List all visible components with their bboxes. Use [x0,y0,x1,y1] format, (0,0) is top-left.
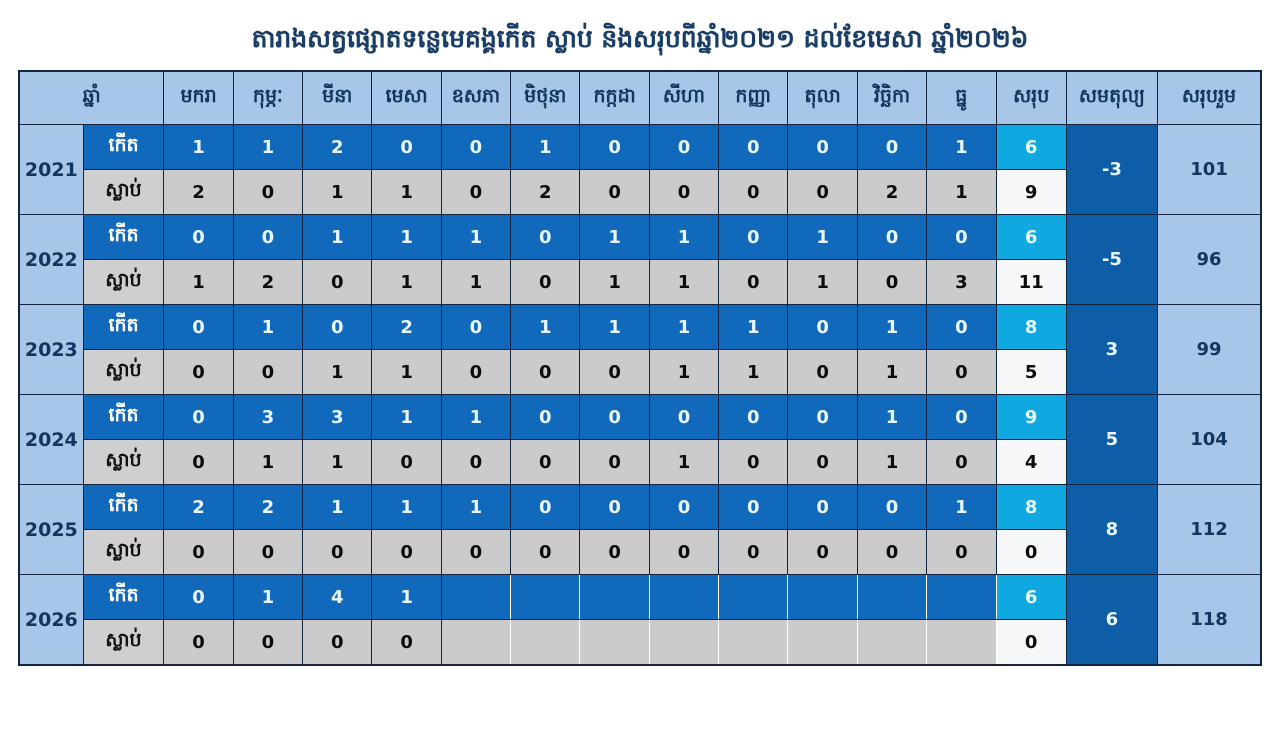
column-header-month-12: ធ្នូ [927,71,996,125]
cell-born-2026-m3: 4 [303,575,372,620]
cell-born-2023-m3: 0 [303,305,372,350]
cell-born-2024-m5: 1 [441,395,510,440]
cell-died-2021-m3: 1 [303,170,372,215]
cell-died-2024-m2: 1 [233,440,302,485]
cell-balance-2021: -3 [1066,125,1157,215]
cell-died-2022-m3: 0 [303,260,372,305]
cell-died-2026-m3: 0 [303,620,372,666]
cell-died-2026-m1: 0 [164,620,233,666]
cell-born-2024-m12: 0 [927,395,996,440]
cell-died-total-2023: 5 [996,350,1066,395]
cell-born-2023-m10: 0 [788,305,857,350]
cell-died-2024-m6: 0 [511,440,580,485]
cell-born-2022-m1: 0 [164,215,233,260]
cell-died-total-2021: 9 [996,170,1066,215]
row-year-2024: 2024 [19,395,83,485]
cell-died-2023-m4: 1 [372,350,441,395]
row-label-died-2022: ស្លាប់ [83,260,164,305]
cell-balance-2024: 5 [1066,395,1157,485]
cell-died-2021-m7: 0 [580,170,649,215]
cell-died-2025-m11: 0 [857,530,926,575]
cell-died-2026-m5 [441,620,510,666]
cell-born-total-2021: 6 [996,125,1066,170]
cell-born-2025-m11: 0 [857,485,926,530]
cell-born-2023-m8: 1 [649,305,718,350]
cell-balance-2022: -5 [1066,215,1157,305]
cell-born-2025-m1: 2 [164,485,233,530]
cell-died-2026-m10 [788,620,857,666]
column-header-month-4: មេសា [372,71,441,125]
cell-born-2024-m10: 0 [788,395,857,440]
column-header-total: សរុប [996,71,1066,125]
cell-born-2021-m8: 0 [649,125,718,170]
cell-born-2026-m2: 1 [233,575,302,620]
cell-died-2023-m10: 0 [788,350,857,395]
table-row: 2023កើត0102011110108399 [19,305,1261,350]
column-header-month-7: កក្កដា [580,71,649,125]
page-root: តារាងសត្វផ្សោតទន្លេមេគង្គកើត ស្លាប់ និងស… [0,0,1280,739]
cell-died-2025-m5: 0 [441,530,510,575]
cell-born-total-2023: 8 [996,305,1066,350]
row-year-2025: 2025 [19,485,83,575]
cell-born-2023-m1: 0 [164,305,233,350]
cell-born-2025-m8: 0 [649,485,718,530]
cell-born-2022-m5: 1 [441,215,510,260]
cell-died-total-2026: 0 [996,620,1066,666]
cell-died-2025-m9: 0 [719,530,788,575]
cell-grand-total-2025: 112 [1157,485,1261,575]
cell-balance-2026: 6 [1066,575,1157,666]
cell-born-2026-m7 [580,575,649,620]
cell-born-2022-m12: 0 [927,215,996,260]
cell-died-2026-m2: 0 [233,620,302,666]
cell-died-2024-m10: 0 [788,440,857,485]
cell-died-2026-m7 [580,620,649,666]
cell-born-2024-m2: 3 [233,395,302,440]
cell-died-2026-m4: 0 [372,620,441,666]
column-header-month-3: មីនា [303,71,372,125]
cell-born-2022-m11: 0 [857,215,926,260]
cell-grand-total-2022: 96 [1157,215,1261,305]
cell-born-2023-m2: 1 [233,305,302,350]
cell-died-2021-m12: 1 [927,170,996,215]
cell-died-2022-m10: 1 [788,260,857,305]
cell-died-2022-m4: 1 [372,260,441,305]
cell-born-2021-m6: 1 [511,125,580,170]
row-label-died-2024: ស្លាប់ [83,440,164,485]
cell-died-2024-m7: 0 [580,440,649,485]
row-label-born-2022: កើត [83,215,164,260]
cell-died-2026-m8 [649,620,718,666]
cell-died-2022-m2: 2 [233,260,302,305]
cell-born-2024-m4: 1 [372,395,441,440]
cell-born-total-2022: 6 [996,215,1066,260]
cell-born-total-2025: 8 [996,485,1066,530]
row-label-born-2023: កើត [83,305,164,350]
cell-born-2026-m11 [857,575,926,620]
cell-died-2021-m9: 0 [719,170,788,215]
cell-died-2024-m8: 1 [649,440,718,485]
column-header-month-11: វិច្ឆិកា [857,71,926,125]
cell-died-2023-m1: 0 [164,350,233,395]
cell-born-total-2024: 9 [996,395,1066,440]
cell-died-2022-m11: 0 [857,260,926,305]
cell-born-total-2026: 6 [996,575,1066,620]
cell-grand-total-2023: 99 [1157,305,1261,395]
cell-born-2026-m1: 0 [164,575,233,620]
cell-born-2026-m5 [441,575,510,620]
cell-born-2026-m10 [788,575,857,620]
column-header-balance: សមតុល្យ [1066,71,1157,125]
cell-died-2026-m6 [511,620,580,666]
cell-born-2021-m12: 1 [927,125,996,170]
cell-born-2025-m3: 1 [303,485,372,530]
cell-born-2024-m9: 0 [719,395,788,440]
cell-died-2025-m7: 0 [580,530,649,575]
cell-born-2023-m5: 0 [441,305,510,350]
cell-died-2026-m11 [857,620,926,666]
cell-died-2024-m1: 0 [164,440,233,485]
row-label-born-2026: កើត [83,575,164,620]
cell-died-2025-m1: 0 [164,530,233,575]
column-header-grand-total: សរុបរួម [1157,71,1261,125]
cell-died-2023-m7: 0 [580,350,649,395]
column-header-month-6: មិថុនា [511,71,580,125]
cell-born-2026-m12 [927,575,996,620]
row-label-died-2025: ស្លាប់ [83,530,164,575]
row-label-died-2021: ស្លាប់ [83,170,164,215]
cell-died-2022-m7: 1 [580,260,649,305]
cell-born-2023-m12: 0 [927,305,996,350]
cell-born-2026-m9 [719,575,788,620]
cell-born-2022-m6: 0 [511,215,580,260]
cell-died-2022-m1: 1 [164,260,233,305]
cell-died-2025-m4: 0 [372,530,441,575]
cell-died-2026-m9 [719,620,788,666]
cell-died-2025-m8: 0 [649,530,718,575]
cell-died-2024-m5: 0 [441,440,510,485]
cell-died-total-2022: 11 [996,260,1066,305]
cell-born-2024-m6: 0 [511,395,580,440]
cell-born-2023-m11: 1 [857,305,926,350]
cell-died-2023-m9: 1 [719,350,788,395]
cell-born-2021-m4: 0 [372,125,441,170]
cell-died-total-2024: 4 [996,440,1066,485]
table-row: 2021កើត1120010000016-3101 [19,125,1261,170]
column-header-month-5: ឧសភា [441,71,510,125]
cell-born-2022-m10: 1 [788,215,857,260]
cell-grand-total-2026: 118 [1157,575,1261,666]
cell-died-2021-m6: 2 [511,170,580,215]
cell-died-2025-m10: 0 [788,530,857,575]
row-year-2021: 2021 [19,125,83,215]
column-header-year: ឆ្នាំ [19,71,164,125]
cell-died-2025-m12: 0 [927,530,996,575]
page-title: តារាងសត្វផ្សោតទន្លេមេគង្គកើត ស្លាប់ និងស… [0,0,1280,70]
cell-born-2024-m8: 0 [649,395,718,440]
table-row: 2024កើត03311000001095104 [19,395,1261,440]
cell-born-2024-m1: 0 [164,395,233,440]
cell-born-2023-m4: 2 [372,305,441,350]
row-year-2023: 2023 [19,305,83,395]
cell-born-2021-m2: 1 [233,125,302,170]
cell-born-2025-m2: 2 [233,485,302,530]
cell-born-2022-m2: 0 [233,215,302,260]
cell-born-2024-m3: 3 [303,395,372,440]
table-row: 2025កើត22111000000188112 [19,485,1261,530]
cell-born-2024-m11: 1 [857,395,926,440]
cell-born-2021-m7: 0 [580,125,649,170]
cell-died-2023-m8: 1 [649,350,718,395]
cell-died-2021-m10: 0 [788,170,857,215]
cell-died-2024-m9: 0 [719,440,788,485]
cell-balance-2023: 3 [1066,305,1157,395]
cell-born-2025-m10: 0 [788,485,857,530]
table-container: ឆ្នាំ មករា កុម្ភៈ មីនា មេសា ឧសភា មិថុនា … [0,70,1280,666]
cell-died-2022-m8: 1 [649,260,718,305]
cell-born-2026-m8 [649,575,718,620]
cell-born-2021-m1: 1 [164,125,233,170]
column-header-month-10: តុលា [788,71,857,125]
cell-born-2021-m10: 0 [788,125,857,170]
dolphin-statistics-table: ឆ្នាំ មករា កុម្ភៈ មីនា មេសា ឧសភា មិថុនា … [18,70,1262,666]
cell-born-2023-m7: 1 [580,305,649,350]
cell-died-2025-m3: 0 [303,530,372,575]
cell-died-2024-m12: 0 [927,440,996,485]
cell-died-2023-m11: 1 [857,350,926,395]
cell-died-2025-m6: 0 [511,530,580,575]
column-header-month-1: មករា [164,71,233,125]
cell-died-2025-m2: 0 [233,530,302,575]
cell-born-2025-m4: 1 [372,485,441,530]
cell-born-2021-m11: 0 [857,125,926,170]
cell-died-2026-m12 [927,620,996,666]
cell-died-2023-m12: 0 [927,350,996,395]
cell-died-2022-m6: 0 [511,260,580,305]
cell-died-2023-m5: 0 [441,350,510,395]
cell-born-2024-m7: 0 [580,395,649,440]
cell-died-2021-m8: 0 [649,170,718,215]
cell-died-2021-m11: 2 [857,170,926,215]
row-label-born-2024: កើត [83,395,164,440]
cell-died-2021-m2: 0 [233,170,302,215]
row-year-2022: 2022 [19,215,83,305]
cell-grand-total-2024: 104 [1157,395,1261,485]
row-year-2026: 2026 [19,575,83,666]
cell-died-total-2025: 0 [996,530,1066,575]
table-row: 2022កើត0011101101006-596 [19,215,1261,260]
cell-balance-2025: 8 [1066,485,1157,575]
cell-born-2025-m12: 1 [927,485,996,530]
cell-died-2022-m12: 3 [927,260,996,305]
cell-born-2022-m8: 1 [649,215,718,260]
cell-died-2022-m9: 0 [719,260,788,305]
cell-died-2021-m5: 0 [441,170,510,215]
cell-born-2021-m9: 0 [719,125,788,170]
column-header-month-9: កញ្ញា [719,71,788,125]
cell-died-2024-m3: 1 [303,440,372,485]
cell-born-2021-m5: 0 [441,125,510,170]
cell-born-2022-m3: 1 [303,215,372,260]
cell-born-2026-m4: 1 [372,575,441,620]
cell-born-2025-m6: 0 [511,485,580,530]
cell-born-2022-m7: 1 [580,215,649,260]
row-label-died-2026: ស្លាប់ [83,620,164,666]
row-label-died-2023: ស្លាប់ [83,350,164,395]
cell-born-2025-m5: 1 [441,485,510,530]
cell-born-2023-m9: 1 [719,305,788,350]
cell-born-2025-m7: 0 [580,485,649,530]
column-header-month-8: សីហា [649,71,718,125]
cell-died-2021-m4: 1 [372,170,441,215]
cell-died-2024-m11: 1 [857,440,926,485]
cell-grand-total-2021: 101 [1157,125,1261,215]
column-header-month-2: កុម្ភៈ [233,71,302,125]
cell-died-2022-m5: 1 [441,260,510,305]
cell-born-2026-m6 [511,575,580,620]
cell-died-2023-m6: 0 [511,350,580,395]
row-label-born-2025: កើត [83,485,164,530]
cell-born-2021-m3: 2 [303,125,372,170]
table-body: 2021កើត1120010000016-3101ស្លាប់201102000… [19,125,1261,666]
table-row: 2026កើត014166118 [19,575,1261,620]
row-label-born-2021: កើត [83,125,164,170]
table-header-row: ឆ្នាំ មករា កុម្ភៈ មីនា មេសា ឧសភា មិថុនា … [19,71,1261,125]
cell-died-2024-m4: 0 [372,440,441,485]
cell-died-2021-m1: 2 [164,170,233,215]
cell-born-2022-m4: 1 [372,215,441,260]
cell-died-2023-m3: 1 [303,350,372,395]
cell-died-2023-m2: 0 [233,350,302,395]
cell-born-2022-m9: 0 [719,215,788,260]
cell-born-2023-m6: 1 [511,305,580,350]
cell-born-2025-m9: 0 [719,485,788,530]
